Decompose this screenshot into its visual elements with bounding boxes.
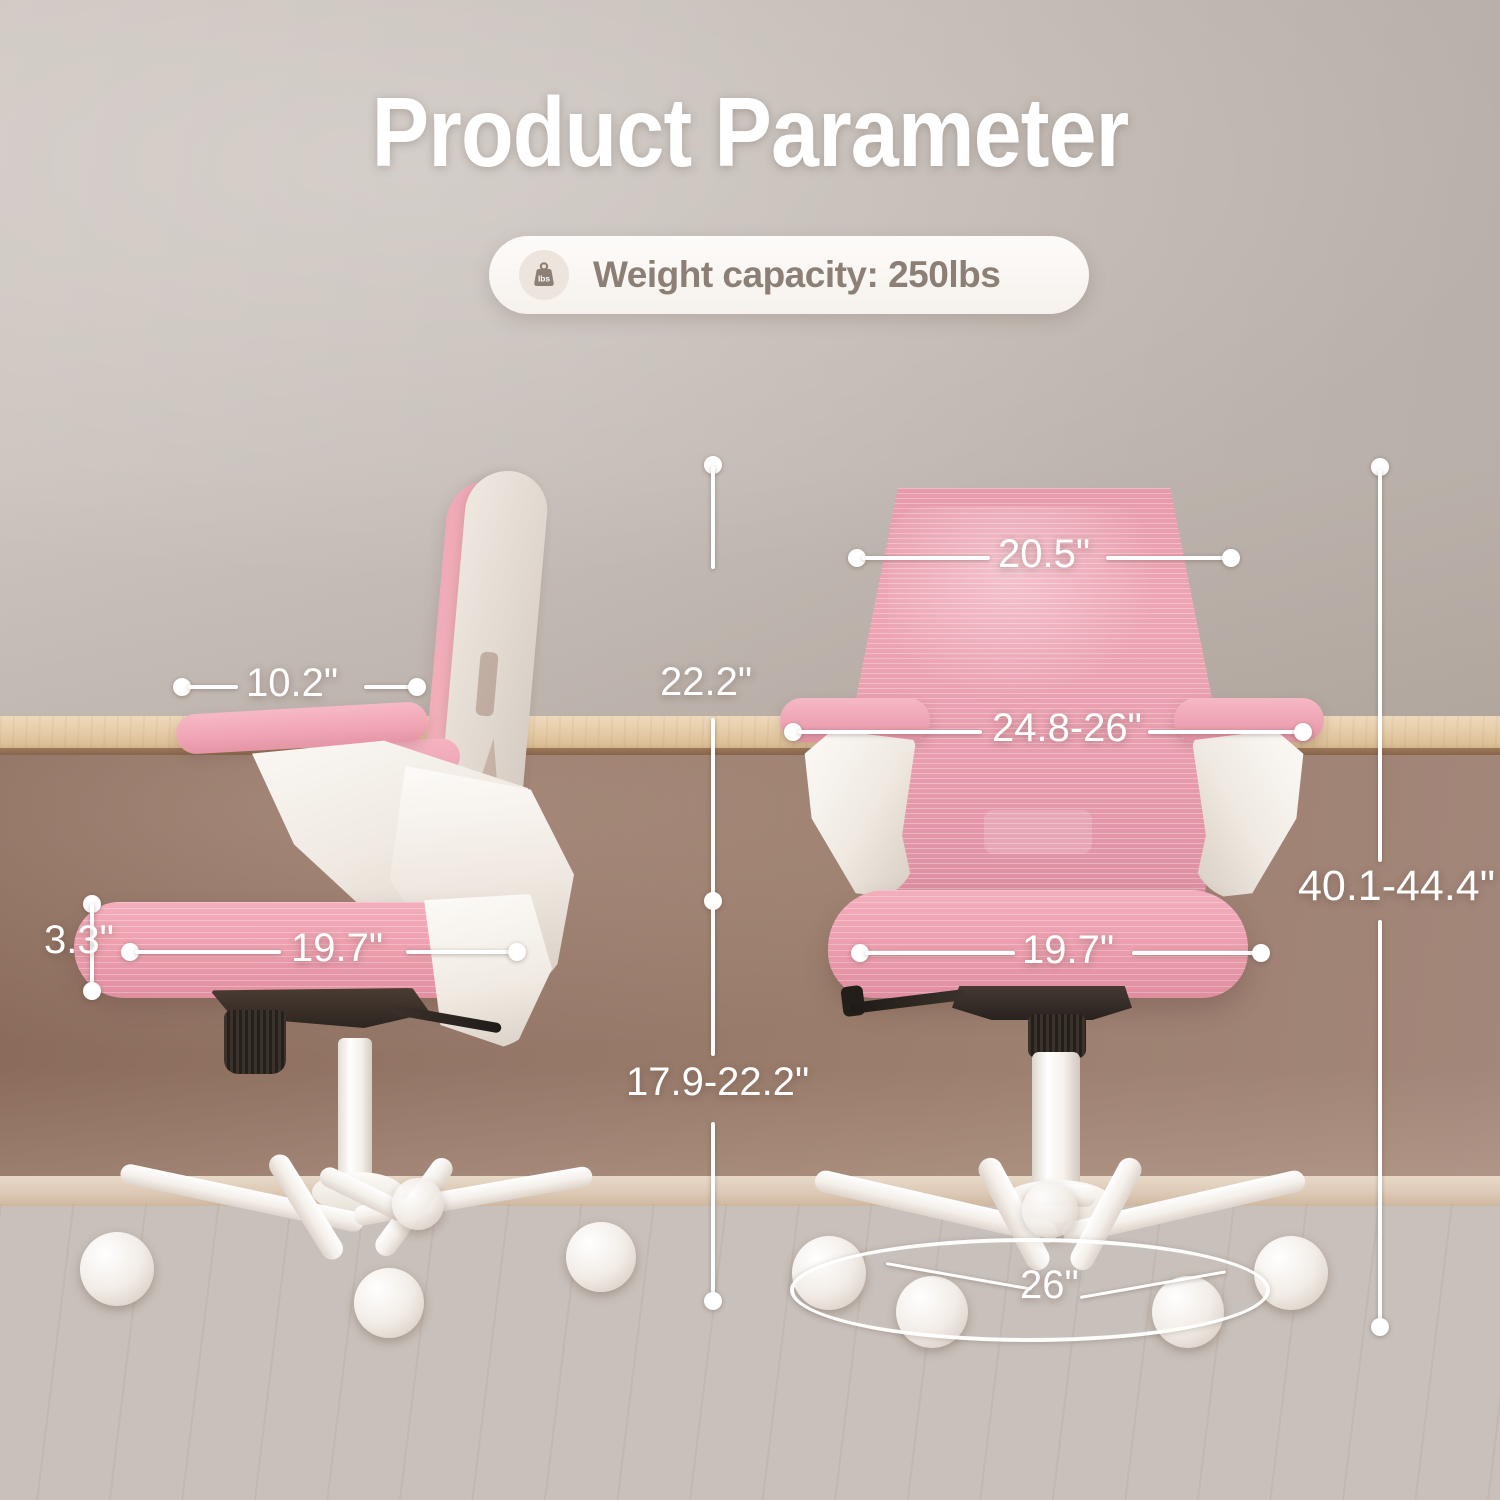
dim-line-seat-height-a xyxy=(711,908,715,1056)
dim-dot-armrest-depth-right xyxy=(408,678,426,696)
dim-dot-armrest-width-right xyxy=(1294,723,1312,741)
dim-label-seat-width: 19.7" xyxy=(1022,928,1114,973)
dim-label-overall-height: 40.1-44.4" xyxy=(1298,862,1495,911)
dim-label-seat-depth: 19.7" xyxy=(291,926,383,971)
dim-dot-seat-width-right xyxy=(1252,944,1270,962)
dim-label-backrest-height: 22.2" xyxy=(660,660,752,705)
weight-icon-label: lbs xyxy=(538,273,550,283)
dim-label-armrest-depth: 10.2" xyxy=(246,661,338,706)
dim-line-seat-height-b xyxy=(711,1122,715,1298)
dim-label-seat-height-range: 17.9-22.2" xyxy=(626,1060,809,1105)
dim-dot-seat-thickness-bottom xyxy=(83,982,101,1000)
side-caster-wheel xyxy=(80,1232,154,1306)
front-caster-wheel xyxy=(1022,1182,1078,1238)
dim-line-backrest-width-a xyxy=(862,556,990,560)
dim-dot-backrest-width-right xyxy=(1222,549,1240,567)
dim-line-seat-width-b xyxy=(1132,951,1260,955)
side-caster-wheel xyxy=(354,1268,424,1338)
dim-line-backrest-height-a xyxy=(711,466,715,569)
dim-line-armrest-width-a xyxy=(798,730,982,734)
dim-dot-overall-height-bottom xyxy=(1371,1318,1389,1336)
dim-line-seat-width-a xyxy=(865,951,1015,955)
side-gas-cylinder xyxy=(338,1038,372,1184)
page-title: Product Parameter xyxy=(90,76,1410,189)
side-caster-wheel xyxy=(566,1222,636,1292)
chair-front-view xyxy=(770,480,1350,1340)
dim-line-armrest-depth-a xyxy=(188,685,238,689)
dim-line-seat-depth-a xyxy=(135,950,281,954)
dim-dot-center-bottom xyxy=(704,1292,722,1310)
dim-label-seat-thickness: 3.3" xyxy=(44,918,114,963)
dim-line-overall-height-b xyxy=(1378,920,1382,1324)
dim-line-backrest-width-b xyxy=(1106,556,1230,560)
weight-capacity-label: Weight capacity: 250lbs xyxy=(593,254,1000,296)
dim-label-armrest-width: 24.8-26" xyxy=(992,706,1142,751)
dim-line-armrest-width-b xyxy=(1148,730,1300,734)
dim-line-seat-depth-b xyxy=(406,950,516,954)
weight-icon: lbs xyxy=(519,250,569,300)
front-gas-cylinder xyxy=(1032,1052,1080,1194)
front-armrest-post-left xyxy=(800,730,916,900)
weight-capacity-badge: lbs Weight capacity: 250lbs xyxy=(489,236,1089,314)
dim-dot-seat-depth-right xyxy=(508,943,526,961)
dim-label-backrest-width: 20.5" xyxy=(998,532,1090,577)
dim-line-overall-height-a xyxy=(1378,470,1382,862)
side-tension-knob xyxy=(224,1010,286,1074)
front-armrest-post-right xyxy=(1192,730,1308,900)
side-caster-wheel xyxy=(392,1178,444,1230)
dim-line-backrest-height-b xyxy=(711,718,715,898)
dim-label-base-diameter: 26" xyxy=(1020,1263,1079,1308)
product-parameter-infographic: Product Parameter lbs Weight capacity: 2… xyxy=(0,0,1500,1500)
chair-side-view xyxy=(60,470,700,1330)
front-lumbar-panel xyxy=(984,810,1092,854)
